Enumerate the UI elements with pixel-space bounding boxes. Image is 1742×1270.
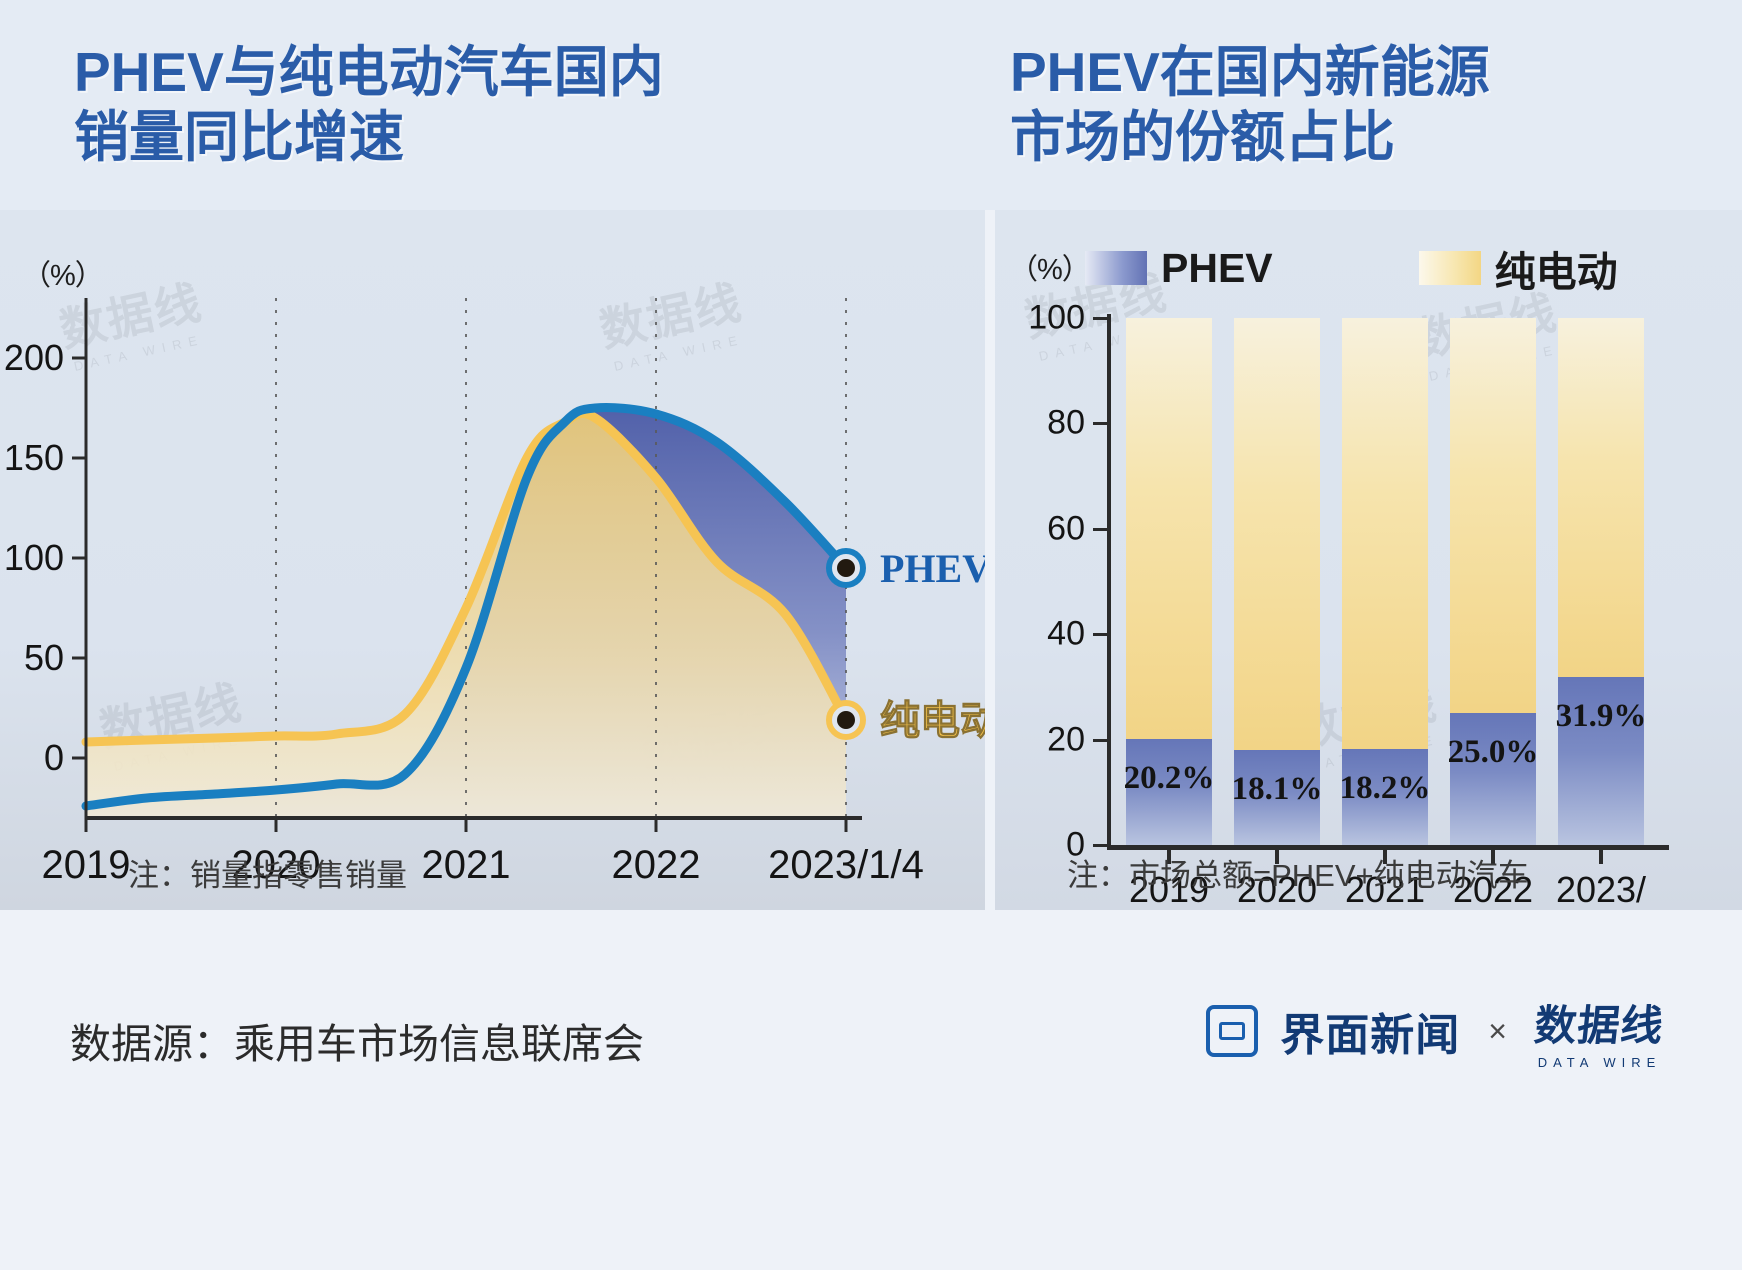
bar-group[interactable]: 31.9% — [1558, 318, 1644, 845]
bar-group[interactable]: 20.2% — [1126, 318, 1212, 845]
right-y-tick — [1093, 422, 1107, 425]
bar-segment-bev[interactable] — [1342, 318, 1428, 749]
left-y-tick-label: 100 — [4, 537, 64, 578]
bar-segment-bev[interactable] — [1126, 318, 1212, 739]
left-y-tick-label: 0 — [44, 737, 64, 778]
right-bar-chart: 02040608010020.2%201918.1%202018.2%20212… — [995, 210, 1742, 910]
footer: 数据源：乘用车市场信息联席会 界面新闻 × 数据线 DATA WIRE — [0, 910, 1742, 1270]
bar-segment-bev[interactable] — [1450, 318, 1536, 713]
right-chart-title: PHEV在国内新能源 市场的份额占比 — [1010, 40, 1742, 171]
infographic-page: PHEV与纯电动汽车国内 销量同比增速 PHEV在国内新能源 市场的份额占比 数… — [0, 0, 1742, 1270]
left-y-tick-label: 50 — [24, 637, 64, 678]
data-wire-en: DATA WIRE — [1535, 1055, 1664, 1070]
left-x-tick-label: 2022 — [612, 843, 701, 887]
data-source-text: 数据源：乘用车市场信息联席会 — [70, 1010, 644, 1070]
right-y-tick — [1093, 317, 1107, 320]
bar-group[interactable]: 25.0% — [1450, 318, 1536, 845]
right-y-tick — [1093, 739, 1107, 742]
right-y-tick — [1093, 844, 1107, 847]
left-x-tick-label: 2019 — [42, 843, 131, 887]
panel-divider — [985, 210, 995, 910]
brand-separator-x: × — [1488, 1013, 1507, 1050]
data-wire-logo: 数据线 DATA WIRE — [1535, 992, 1664, 1070]
bar-group[interactable]: 18.1% — [1234, 318, 1320, 845]
data-wire-cn: 数据线 — [1532, 992, 1667, 1053]
right-y-axis — [1107, 314, 1111, 849]
left-y-tick-label: 150 — [4, 437, 64, 478]
bar-value-label: 25.0% — [1448, 734, 1539, 771]
left-series-endpoint-label-phev: PHEV — [880, 546, 985, 591]
right-y-tick-label: 20 — [995, 720, 1085, 759]
right-y-tick-label: 80 — [995, 404, 1085, 443]
brand-name: 界面新闻 — [1280, 999, 1460, 1063]
titles-band: PHEV与纯电动汽车国内 销量同比增速 PHEV在国内新能源 市场的份额占比 — [0, 0, 1742, 218]
jiemian-logo-icon — [1206, 1005, 1258, 1057]
bar-segment-phev[interactable] — [1450, 713, 1536, 845]
bar-segment-bev[interactable] — [1558, 318, 1644, 677]
right-y-tick-label: 60 — [995, 509, 1085, 548]
bar-segment-bev[interactable] — [1234, 318, 1320, 750]
right-y-tick-label: 40 — [995, 615, 1085, 654]
bar-value-label: 18.2% — [1340, 770, 1431, 807]
right-chart-note: 注：市场总额=PHEV+纯电动汽车 — [1067, 850, 1529, 895]
bar-group[interactable]: 18.2% — [1342, 318, 1428, 845]
brand-block: 界面新闻 × 数据线 DATA WIRE — [1206, 992, 1664, 1070]
left-chart-panel: 数据线DATA WIRE 数据线DATA WIRE 数据线DATA WIRE 数… — [0, 210, 985, 910]
bar-value-label: 18.1% — [1232, 771, 1323, 808]
right-y-tick-label: 100 — [995, 299, 1085, 338]
right-y-tick — [1093, 528, 1107, 531]
left-chart-note: 注：销量指零售销量 — [128, 850, 407, 895]
left-x-tick-label: 2023/1/4 — [768, 843, 924, 887]
charts-area: 数据线DATA WIRE 数据线DATA WIRE 数据线DATA WIRE 数… — [0, 210, 1742, 910]
right-x-tick — [1599, 850, 1603, 864]
left-line-chart-svg: 05010015020020192020202120222023/1/4PHEV… — [0, 210, 985, 910]
left-series-endpoint-label-bev: 纯电动 — [880, 699, 985, 743]
right-chart-panel: 数据线DATA WIRE 数据线DATA WIRE 数据线DATA WIRE （… — [995, 210, 1742, 910]
bar-value-label: 20.2% — [1124, 760, 1215, 797]
bar-value-label: 31.9% — [1556, 698, 1647, 735]
right-y-tick — [1093, 633, 1107, 636]
left-y-tick-label: 200 — [4, 337, 64, 378]
left-x-tick-label: 2021 — [422, 843, 511, 887]
left-title-column: PHEV与纯电动汽车国内 销量同比增速 — [0, 0, 990, 218]
left-chart-title: PHEV与纯电动汽车国内 销量同比增速 — [74, 40, 990, 171]
right-title-column: PHEV在国内新能源 市场的份额占比 — [990, 0, 1742, 218]
